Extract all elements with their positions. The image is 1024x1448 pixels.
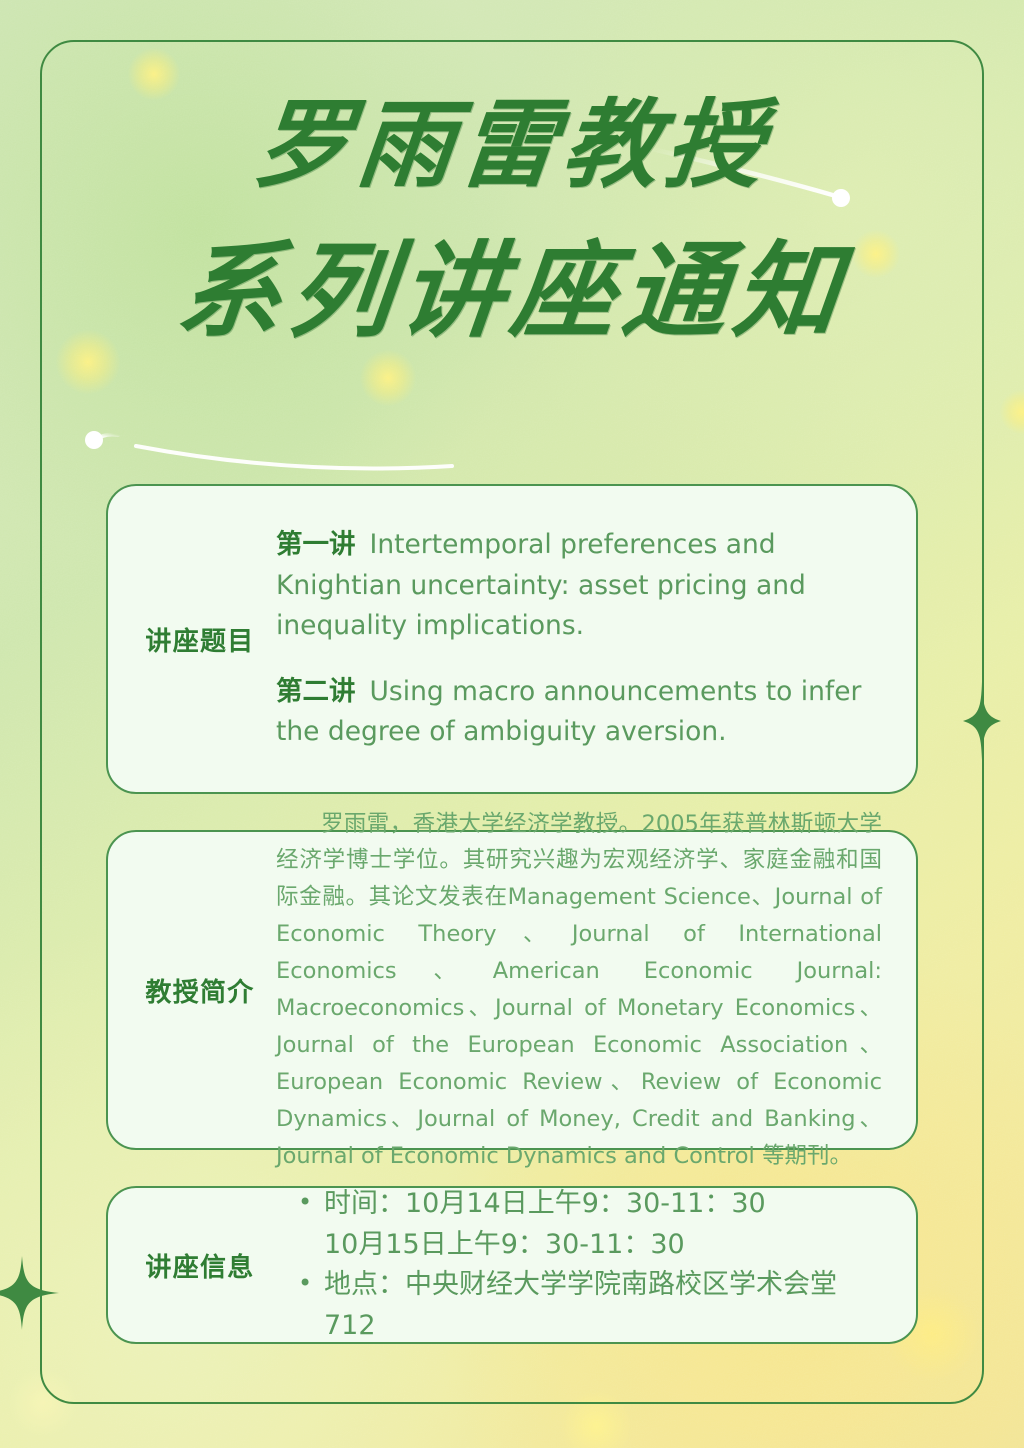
list-item: • 10月15日上午9：30-11：30: [276, 1225, 886, 1266]
bullet-icon: •: [298, 1184, 324, 1221]
lecture-topic-label: 讲座题目: [108, 621, 276, 658]
glow-dot: [1000, 390, 1024, 434]
lecture-number: 第二讲: [276, 676, 356, 707]
lecture-item: 第一讲Intertemporal preferences and Knighti…: [276, 525, 886, 646]
professor-bio-body: 罗雨雷，香港大学经济学教授。2005年获普林斯顿大学经济学博士学位。其研究兴趣为…: [276, 806, 916, 1175]
lecture-text: 第二讲Using macro announcements to infer th…: [276, 672, 886, 753]
lecture-item: 第二讲Using macro announcements to infer th…: [276, 672, 886, 753]
lecture-info-body: • 时间：10月14日上午9：30-11：30 • 10月15日上午9：30-1…: [276, 1184, 916, 1346]
title-line-1: 罗雨雷教授: [0, 72, 1024, 218]
lecture-info-text: 10月15日上午9：30-11：30: [324, 1225, 886, 1266]
sparkle-icon-right: [963, 682, 1001, 760]
swoosh-under-title: [130, 438, 460, 478]
lecture-info-text: 时间：10月14日上午9：30-11：30: [324, 1184, 886, 1225]
professor-bio-card: 教授简介 罗雨雷，香港大学经济学教授。2005年获普林斯顿大学经济学博士学位。其…: [106, 830, 918, 1150]
glow-dot: [8, 1368, 78, 1438]
glow-dot: [560, 1390, 632, 1448]
lecture-topic-card: 讲座题目 第一讲Intertemporal preferences and Kn…: [106, 484, 918, 794]
lecture-title: Using macro announcements to infer the d…: [276, 676, 861, 747]
professor-bio-label: 教授简介: [108, 972, 276, 1009]
title-line-2: 系列讲座通知: [0, 212, 1024, 370]
lecture-topic-body: 第一讲Intertemporal preferences and Knighti…: [276, 525, 916, 752]
lecture-info-text: 地点：中央财经大学学院南路校区学术会堂712: [324, 1265, 886, 1346]
lecture-info-card: 讲座信息 • 时间：10月14日上午9：30-11：30 • 10月15日上午9…: [106, 1186, 918, 1344]
poster-canvas: 罗雨雷教授 系列讲座通知 讲座题目 第一讲Intertemporal prefe…: [0, 0, 1024, 1448]
bullet-icon: •: [298, 1265, 324, 1302]
comet-swoosh-left: [74, 408, 424, 488]
lecture-info-label: 讲座信息: [108, 1247, 276, 1284]
lecture-number: 第一讲: [276, 529, 356, 560]
list-item: • 地点：中央财经大学学院南路校区学术会堂712: [276, 1265, 886, 1346]
sparkle-icon-left: [0, 1254, 61, 1332]
lecture-text: 第一讲Intertemporal preferences and Knighti…: [276, 525, 886, 646]
poster-title: 罗雨雷教授 系列讲座通知: [0, 72, 1024, 370]
list-item: • 时间：10月14日上午9：30-11：30: [276, 1184, 886, 1225]
professor-bio-text: 罗雨雷，香港大学经济学教授。2005年获普林斯顿大学经济学博士学位。其研究兴趣为…: [276, 806, 886, 1175]
lecture-info-list: • 时间：10月14日上午9：30-11：30 • 10月15日上午9：30-1…: [276, 1184, 886, 1346]
